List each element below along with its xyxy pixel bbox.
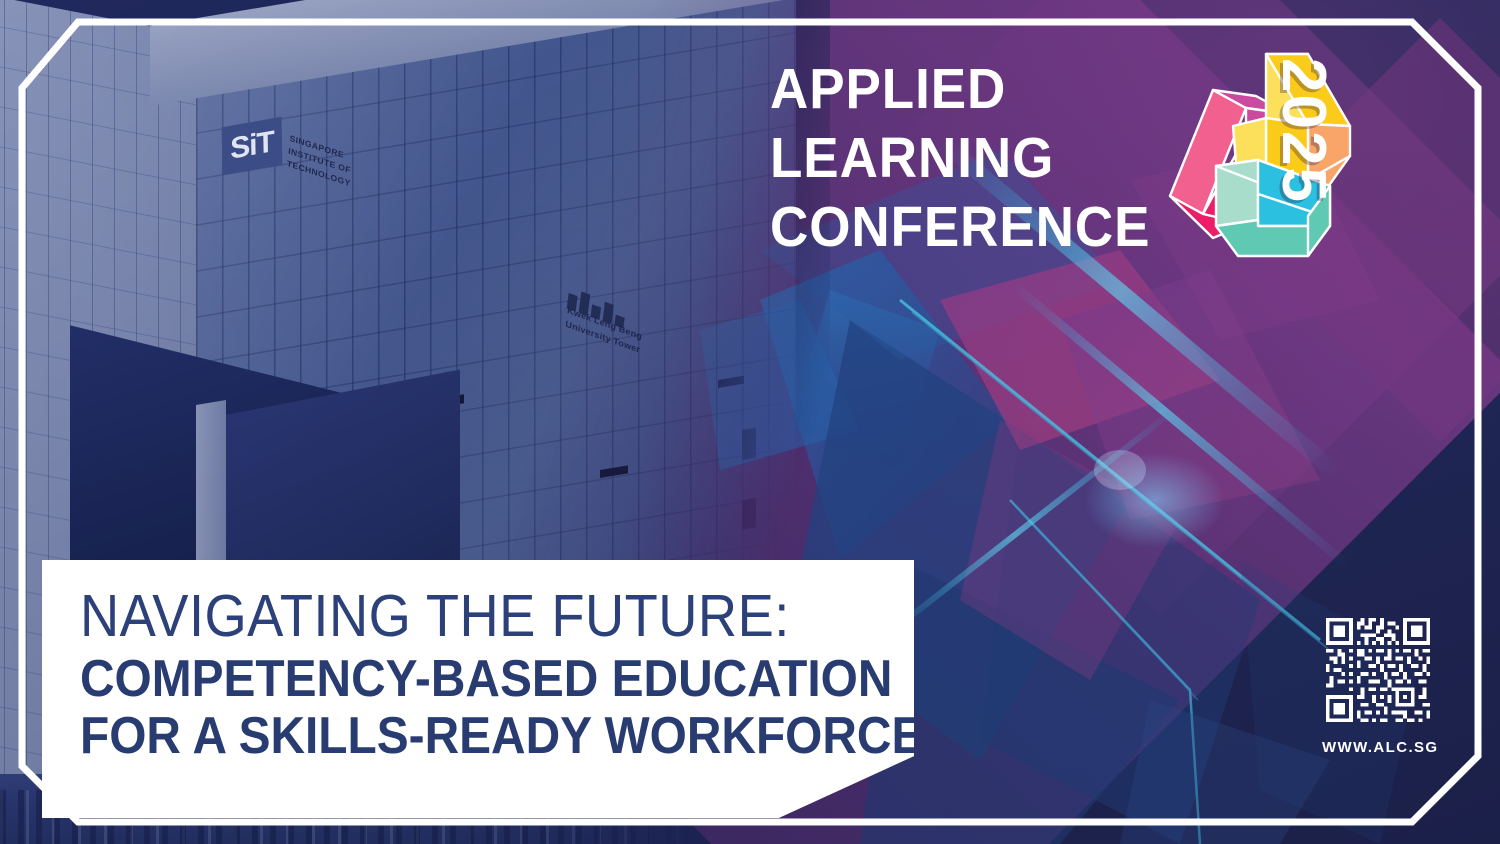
- event-title-line-1: APPLIED: [770, 60, 1142, 118]
- event-title-line-3: CONFERENCE: [770, 198, 1142, 256]
- event-title-line-2: LEARNING: [770, 129, 1142, 187]
- conference-banner: SiT SINGAPORE INSTITUTE OF TECHNOLOGY Kw…: [0, 0, 1500, 844]
- headline-line-3: FOR A SKILLS-READY WORKFORCE: [80, 709, 816, 764]
- website-url[interactable]: WWW.ALC.SG: [1322, 739, 1434, 756]
- headline-line-2: COMPETENCY-BASED EDUCATION: [80, 652, 816, 707]
- headline-line-1: NAVIGATING THE FUTURE:: [80, 586, 816, 646]
- headline-panel: NAVIGATING THE FUTURE: COMPETENCY-BASED …: [42, 560, 914, 818]
- event-year: 2025: [1274, 58, 1334, 258]
- sit-logo-text: SiT: [230, 127, 274, 165]
- qr-code-block[interactable]: WWW.ALC.SG: [1322, 614, 1446, 756]
- qr-code-icon[interactable]: [1322, 614, 1434, 726]
- event-title: APPLIED LEARNING CONFERENCE: [770, 60, 1170, 267]
